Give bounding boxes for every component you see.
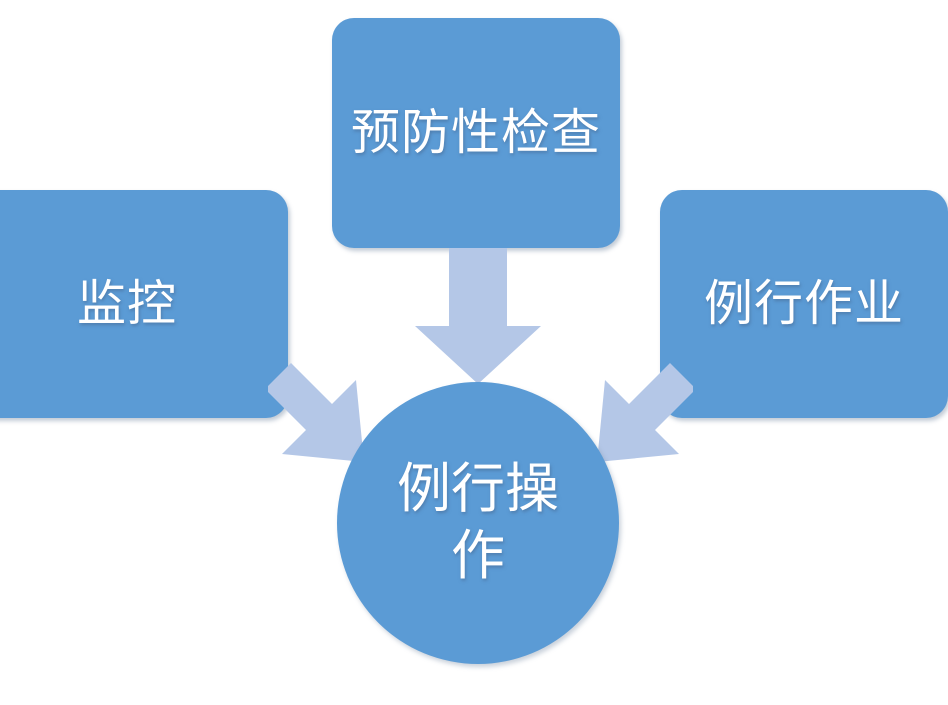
node-routine-operation[interactable]: 例行操作 xyxy=(337,382,619,664)
diagram-canvas: 预防性检查 监控 例行作业 例行操作 xyxy=(0,0,948,705)
node-preventive-check-label: 预防性检查 xyxy=(351,105,601,161)
node-routine-operation-label: 例行操作 xyxy=(393,456,563,591)
block-arrow-down-icon xyxy=(413,248,543,386)
node-monitoring-label: 监控 xyxy=(77,276,177,332)
node-routine-work[interactable]: 例行作业 xyxy=(660,190,948,418)
node-preventive-check[interactable]: 预防性检查 xyxy=(332,18,620,248)
node-routine-work-label: 例行作业 xyxy=(704,276,904,332)
node-monitoring[interactable]: 监控 xyxy=(0,190,288,418)
